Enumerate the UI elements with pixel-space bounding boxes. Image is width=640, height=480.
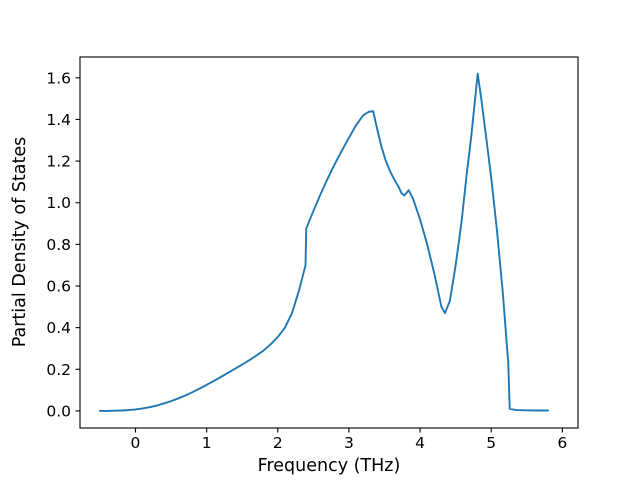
- y-tick-label: 0.6: [46, 278, 71, 296]
- y-tick-label: 1.4: [46, 111, 71, 129]
- x-tick-label: 0: [131, 434, 141, 452]
- y-tick-label: 0.4: [46, 319, 71, 337]
- x-tick-label: 2: [273, 434, 283, 452]
- y-tick-label: 0.8: [46, 236, 71, 254]
- x-tick-label: 1: [202, 434, 212, 452]
- y-tick-label: 1.6: [46, 69, 71, 87]
- x-tick-label: 4: [415, 434, 425, 452]
- y-axis-label: Partial Density of States: [10, 137, 30, 348]
- figure-canvas: 0123456 0.00.20.40.60.81.01.21.41.6 Freq…: [0, 0, 640, 480]
- axes-background: [80, 57, 578, 428]
- y-tick-label: 1.0: [46, 194, 71, 212]
- x-tick-label: 3: [344, 434, 354, 452]
- y-tick-labels: 0.00.20.40.60.81.01.21.41.6: [46, 69, 71, 420]
- x-axis-label: Frequency (THz): [258, 456, 401, 476]
- partial-density-of-states-chart: 0123456 0.00.20.40.60.81.01.21.41.6 Freq…: [0, 0, 640, 480]
- x-tick-label: 5: [486, 434, 496, 452]
- x-tick-label: 6: [557, 434, 567, 452]
- y-tick-label: 1.2: [46, 153, 71, 171]
- y-tick-label: 0.2: [46, 361, 71, 379]
- y-tick-label: 0.0: [46, 402, 71, 420]
